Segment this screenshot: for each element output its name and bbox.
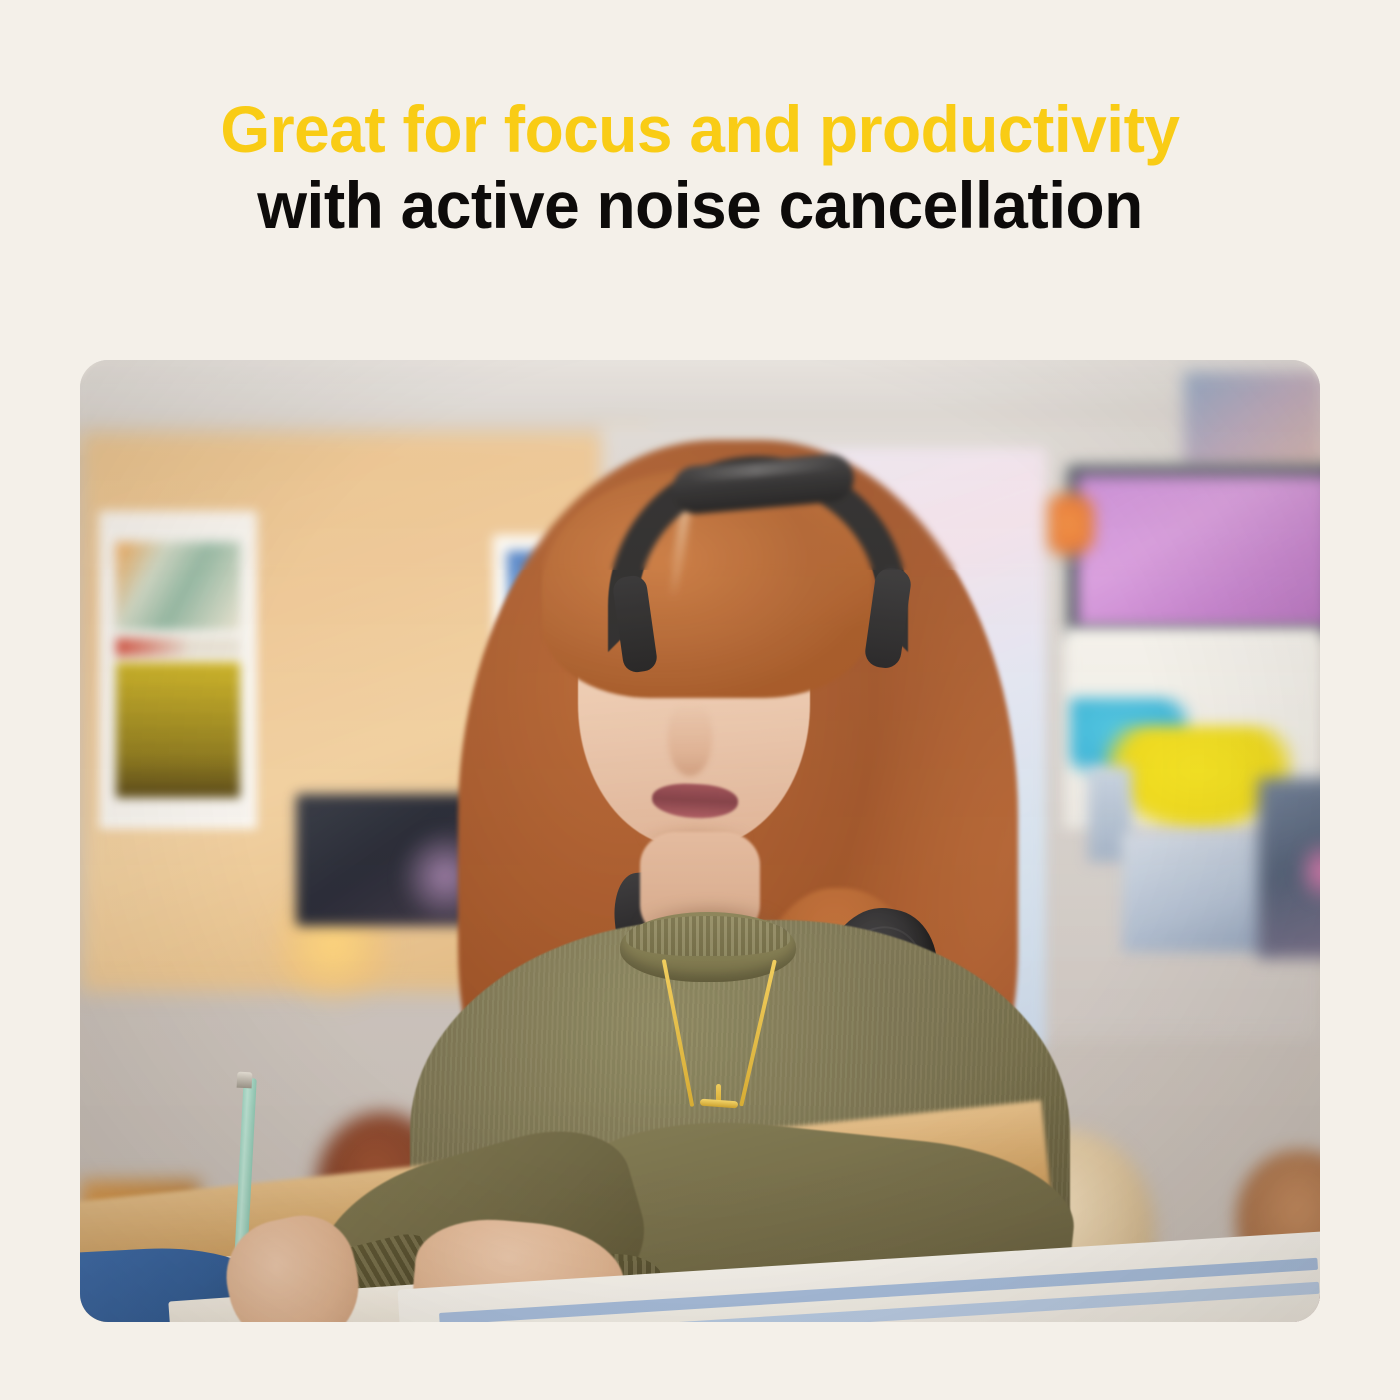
headline-line-2: with active noise cancellation: [21, 172, 1379, 238]
lifestyle-photo: [80, 360, 1320, 1322]
main-subject: [80, 360, 1320, 1322]
headline-block: Great for focus and productivity with ac…: [0, 96, 1400, 238]
office-scene: [80, 360, 1320, 1322]
headline-line-1: Great for focus and productivity: [21, 96, 1379, 162]
sweater-collar-ribbing: [626, 916, 790, 956]
subject-nose: [668, 704, 712, 776]
product-lifestyle-banner: Great for focus and productivity with ac…: [0, 0, 1400, 1400]
pencil-tip: [237, 1072, 253, 1089]
